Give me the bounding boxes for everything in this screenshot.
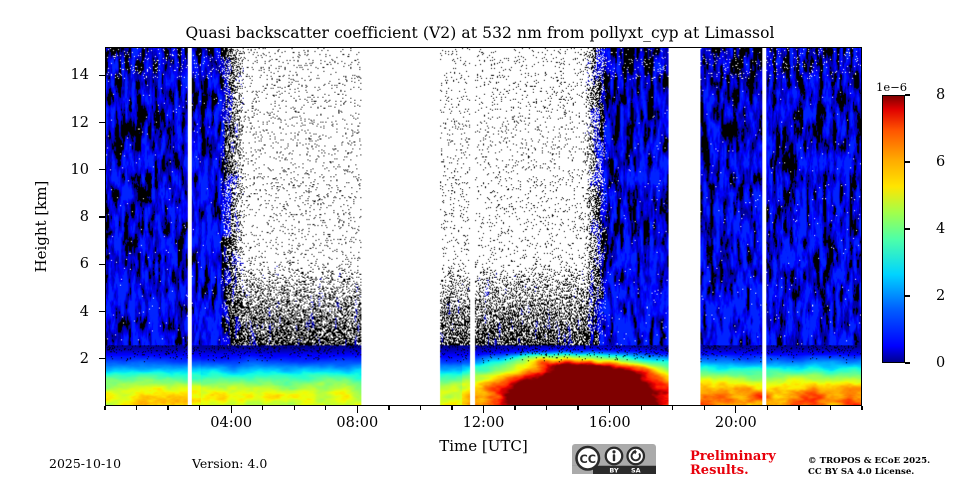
footer-date: 2025-10-10 [49, 456, 121, 471]
plot-area[interactable] [105, 47, 862, 406]
y-tick-major [99, 358, 106, 359]
colorbar-tick-label: 6 [936, 154, 945, 170]
y-tick-major [99, 75, 106, 76]
colorbar-exponent-label: 1e−6 [876, 80, 907, 94]
colorbar-tick-label: 8 [936, 87, 945, 103]
y-tick-label: 8 [80, 209, 89, 225]
preliminary-line-1: Preliminary [690, 450, 790, 464]
y-tick-major [99, 122, 106, 123]
colorbar [882, 95, 905, 363]
lidar-quicklook-figure: Quasi backscatter coefficient (V2) at 53… [0, 0, 960, 480]
x-tick-label: 04:00 [210, 415, 252, 431]
y-axis-ticks [99, 47, 107, 406]
y-tick-label: 12 [71, 115, 89, 131]
svg-text:SA: SA [631, 467, 641, 475]
y-tick-label: 2 [80, 351, 89, 367]
copyright-line-1: © TROPOS & ECoE 2025. [808, 456, 930, 467]
colorbar-tick [905, 94, 910, 95]
y-tick-major [99, 264, 106, 265]
y-tick-label: 10 [71, 162, 89, 178]
colorbar-tick [905, 362, 910, 363]
preliminary-line-2: Results. [690, 464, 790, 478]
y-tick-label: 4 [80, 304, 89, 320]
y-tick-major [99, 216, 106, 217]
svg-text:CC: CC [579, 453, 596, 466]
colorbar-tick-label: 0 [936, 355, 945, 371]
x-axis-tick-labels: 04:0008:0012:0016:0020:00 [105, 406, 862, 430]
x-tick-label: 16:00 [589, 415, 631, 431]
y-axis-label: Height [km] [32, 181, 50, 273]
colorbar-tick [905, 295, 910, 296]
colorbar-tick-label: 4 [936, 221, 945, 237]
y-tick-major [99, 311, 106, 312]
footer-version: Version: 4.0 [192, 456, 267, 471]
copyright-notice: © TROPOS & ECoE 2025. CC BY SA 4.0 Licen… [808, 456, 930, 478]
page-title: Quasi backscatter coefficient (V2) at 53… [0, 24, 960, 42]
creative-commons-badge: CC BY SA [572, 444, 656, 474]
heatmap-canvas [106, 48, 861, 405]
colorbar-tick [905, 161, 910, 162]
colorbar-tick-label: 2 [936, 288, 945, 304]
x-tick-label: 20:00 [715, 415, 757, 431]
x-tick-label: 08:00 [336, 415, 378, 431]
y-tick-major [99, 169, 106, 170]
preliminary-results-note: Preliminary Results. [690, 450, 790, 477]
y-axis-label-wrapper: Height [km] [32, 47, 52, 406]
colorbar-ticks: 02468 [905, 95, 960, 363]
colorbar-tick [905, 228, 910, 229]
copyright-line-2: CC BY SA 4.0 License. [808, 467, 930, 478]
x-tick-label: 12:00 [463, 415, 505, 431]
svg-text:BY: BY [609, 467, 619, 475]
y-tick-label: 14 [71, 67, 89, 83]
y-tick-label: 6 [80, 256, 89, 272]
